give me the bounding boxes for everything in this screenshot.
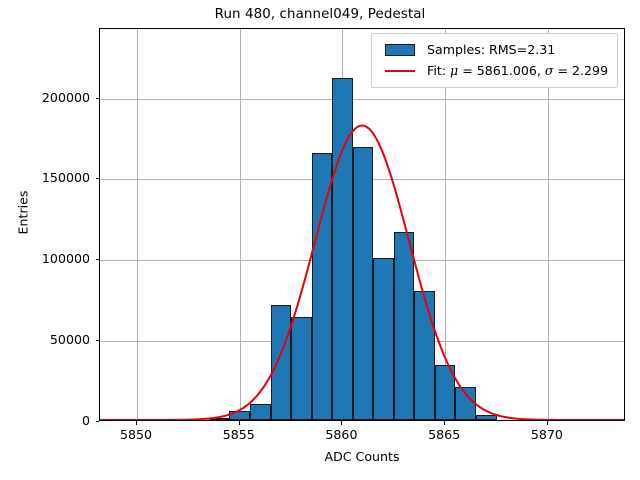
y-tick-mark bbox=[96, 178, 100, 179]
legend-color-patch-icon bbox=[379, 44, 421, 56]
legend-entry-samples: Samples: RMS=2.31 bbox=[379, 39, 610, 60]
figure-canvas: Run 480, channel049, Pedestal ADC Counts… bbox=[0, 0, 640, 480]
x-axis-label: ADC Counts bbox=[99, 449, 625, 464]
y-tick-mark bbox=[96, 421, 100, 422]
y-tick-label: 100000 bbox=[10, 251, 90, 266]
legend-entry-fit: Fit: μ = 5861.006, σ = 2.299 bbox=[379, 60, 610, 81]
x-tick-label: 5860 bbox=[301, 427, 381, 442]
x-tick-mark bbox=[239, 421, 240, 425]
x-tick-mark bbox=[341, 421, 342, 425]
x-tick-mark bbox=[444, 421, 445, 425]
y-axis-label: Entries bbox=[16, 133, 31, 293]
y-tick-mark bbox=[96, 340, 100, 341]
x-tick-mark bbox=[136, 421, 137, 425]
x-tick-mark bbox=[547, 421, 548, 425]
x-tick-label: 5865 bbox=[404, 427, 484, 442]
y-tick-mark bbox=[96, 259, 100, 260]
x-tick-label: 5870 bbox=[507, 427, 587, 442]
y-tick-label: 200000 bbox=[10, 90, 90, 105]
legend-box[interactable]: Samples: RMS=2.31 Fit: μ = 5861.006, σ =… bbox=[371, 33, 618, 88]
y-tick-label: 0 bbox=[10, 413, 90, 428]
x-tick-label: 5850 bbox=[96, 427, 176, 442]
y-tick-label: 150000 bbox=[10, 170, 90, 185]
y-tick-label: 50000 bbox=[10, 332, 90, 347]
fit-curve-path bbox=[100, 126, 624, 420]
chart-title: Run 480, channel049, Pedestal bbox=[0, 7, 640, 22]
legend-line-swatch-icon bbox=[379, 70, 421, 72]
legend-label-fit: Fit: μ = 5861.006, σ = 2.299 bbox=[421, 63, 608, 78]
x-tick-label: 5855 bbox=[199, 427, 279, 442]
y-tick-mark bbox=[96, 98, 100, 99]
legend-label-samples: Samples: RMS=2.31 bbox=[421, 42, 555, 57]
